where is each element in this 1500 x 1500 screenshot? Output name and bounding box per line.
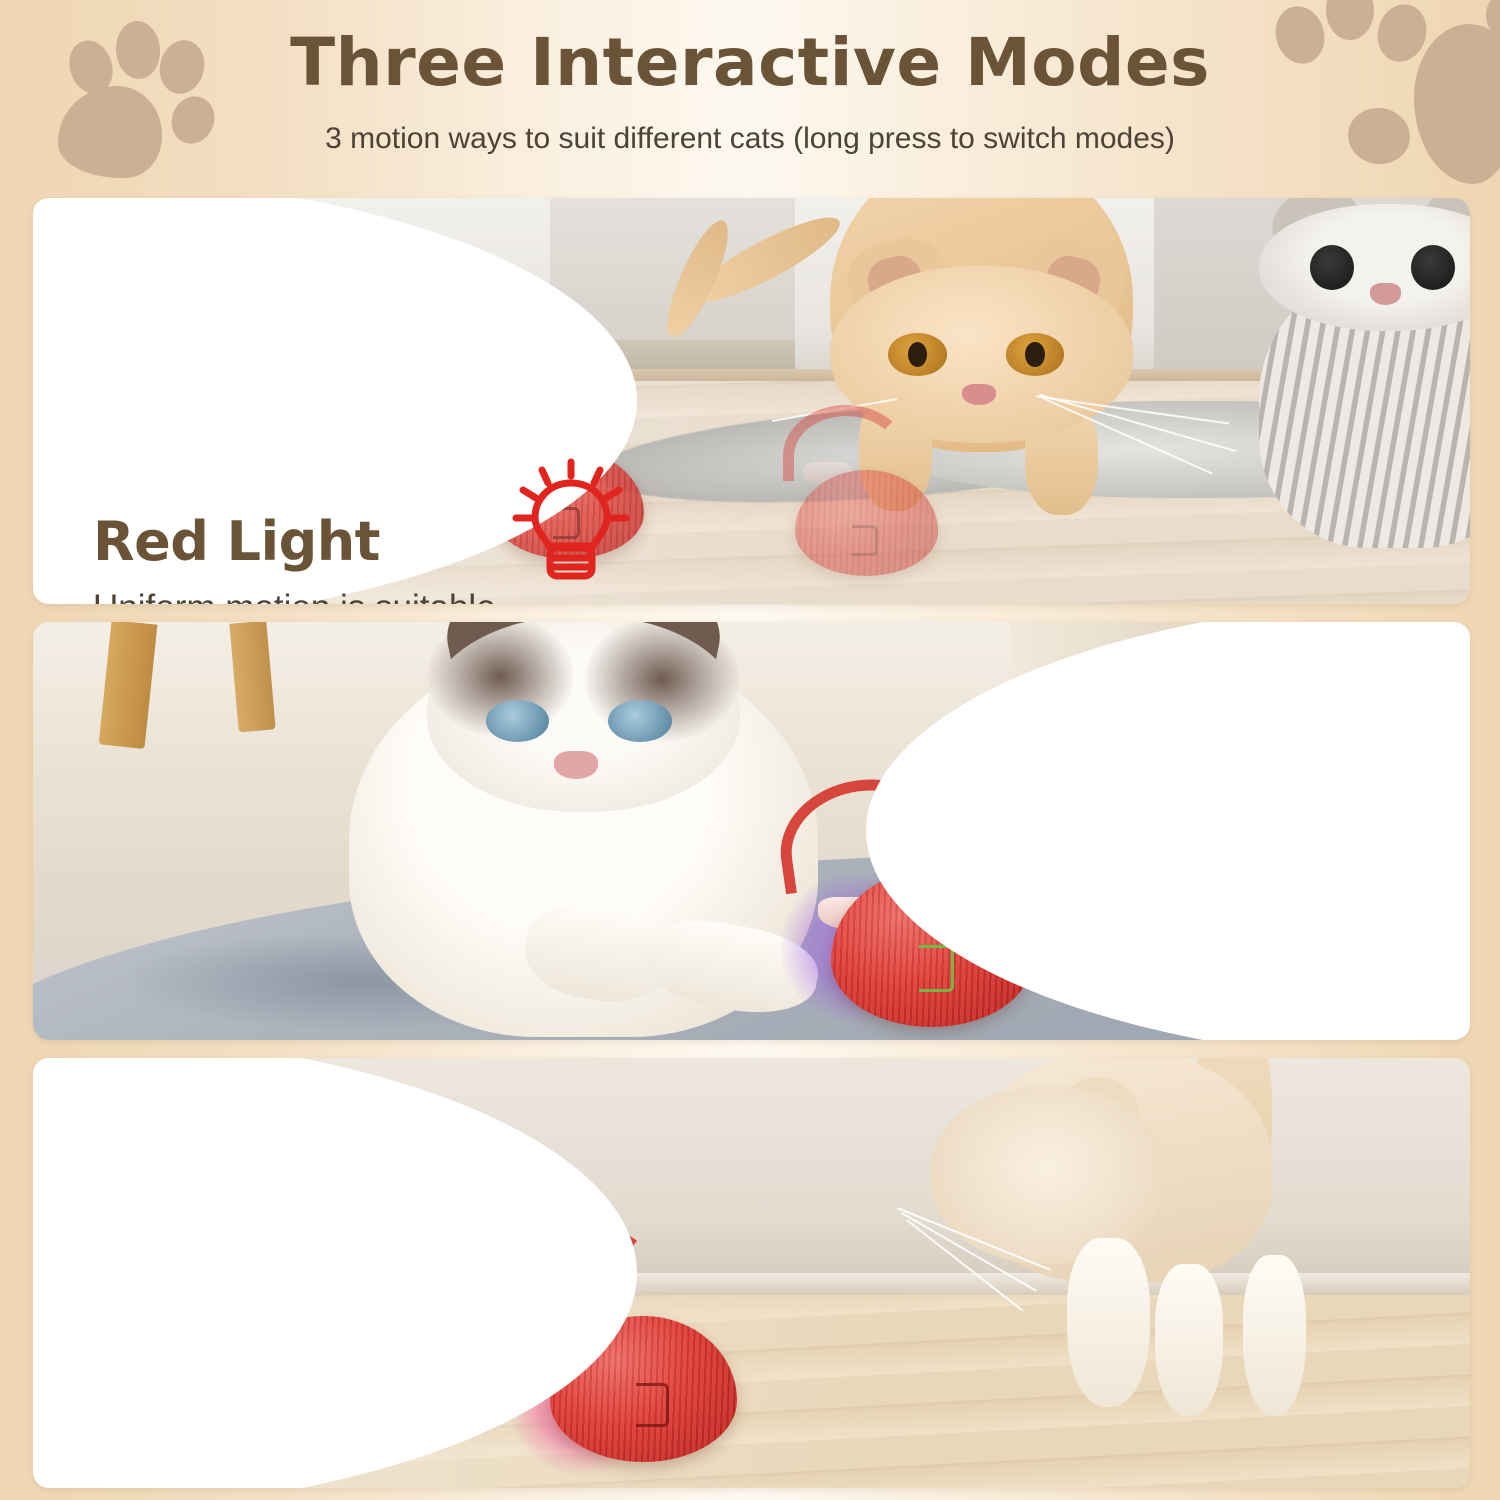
- mode-description-line: Uniform motion is suitable: [93, 585, 563, 604]
- toy-ball-ghost-2: [795, 470, 939, 576]
- cat-ragdoll: [349, 622, 838, 1040]
- mode-card-red[interactable]: Red Light Uniform motion is suitable for…: [33, 198, 1470, 604]
- mode-title-red: Red Light: [93, 514, 563, 571]
- page-title: Three Interactive Modes: [0, 24, 1500, 101]
- mode-card-pink[interactable]: Pink Light Quick swing suitable for adul…: [33, 1058, 1470, 1488]
- mode-card-purple[interactable]: Purple Light Fast scrolling is suitable …: [33, 622, 1470, 1040]
- text-block-red: Red Light Uniform motion is suitable for…: [93, 514, 563, 604]
- cat-cream-kitten: [852, 1058, 1341, 1488]
- cat-grey-kitten: [1240, 198, 1470, 555]
- header: Three Interactive Modes 3 motion ways to…: [0, 0, 1500, 196]
- mode-description-red: Uniform motion is suitable for gentle ca…: [93, 585, 563, 604]
- infographic-page: Three Interactive Modes 3 motion ways to…: [0, 0, 1500, 1500]
- page-subtitle: 3 motion ways to suit different cats (lo…: [0, 122, 1500, 156]
